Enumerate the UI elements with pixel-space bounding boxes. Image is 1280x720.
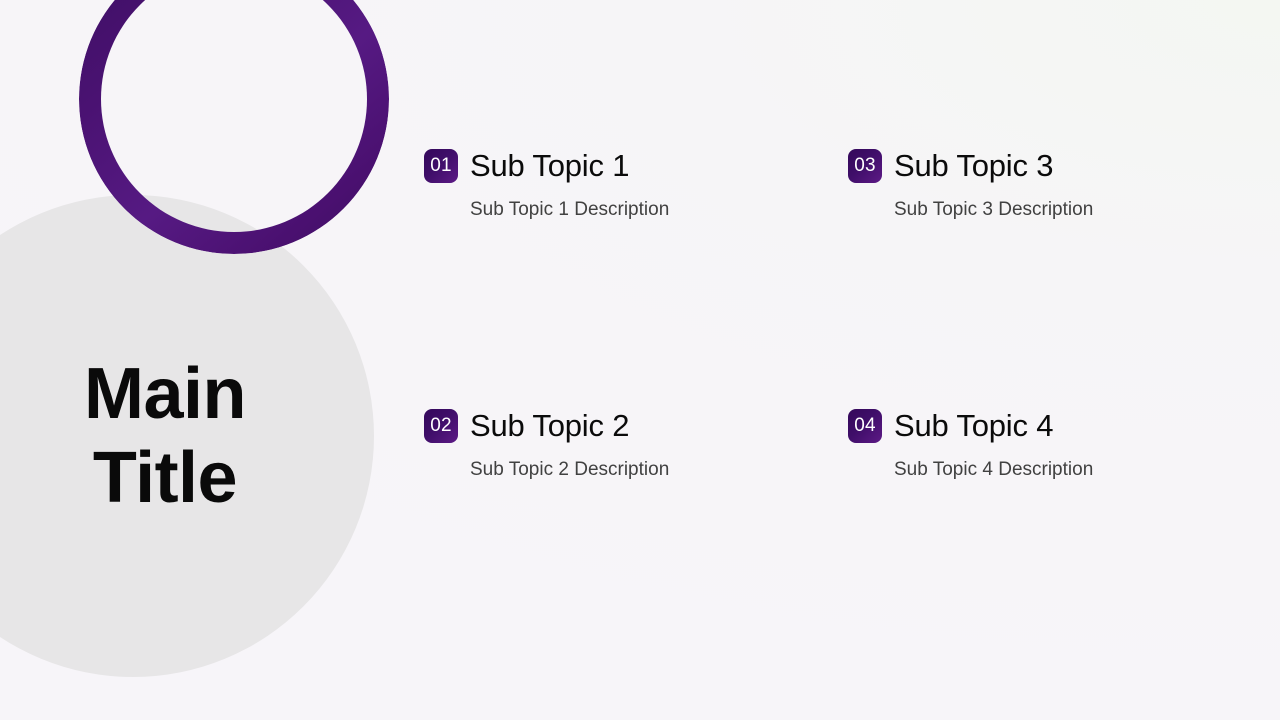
topic-title: Sub Topic 3 (894, 148, 1053, 184)
slide-canvas: Main Title 01 Sub Topic 1 Sub Topic 1 De… (0, 0, 1280, 720)
topic-description: Sub Topic 1 Description (470, 198, 848, 222)
topic-number-badge: 03 (848, 149, 882, 183)
topic-title: Sub Topic 1 (470, 148, 629, 184)
topic-header: 03 Sub Topic 3 (848, 148, 1184, 184)
topic-header: 01 Sub Topic 1 (424, 148, 848, 184)
topic-number-badge: 04 (848, 409, 882, 443)
topic-header: 02 Sub Topic 2 (424, 408, 848, 444)
topic-description: Sub Topic 4 Description (894, 458, 1184, 482)
topic-number-badge: 01 (424, 149, 458, 183)
topic-title: Sub Topic 2 (470, 408, 629, 444)
topic-item-04[interactable]: 04 Sub Topic 4 Sub Topic 4 Description (848, 408, 1184, 538)
topic-title: Sub Topic 4 (894, 408, 1053, 444)
topic-item-02[interactable]: 02 Sub Topic 2 Sub Topic 2 Description (424, 408, 848, 538)
page-title: Main Title (0, 352, 330, 520)
topic-description: Sub Topic 3 Description (894, 198, 1184, 222)
topic-header: 04 Sub Topic 4 (848, 408, 1184, 444)
topic-item-01[interactable]: 01 Sub Topic 1 Sub Topic 1 Description (424, 148, 848, 278)
topic-grid: 01 Sub Topic 1 Sub Topic 1 Description 0… (424, 148, 1184, 508)
topic-number-badge: 02 (424, 409, 458, 443)
topic-description: Sub Topic 2 Description (470, 458, 848, 482)
topic-item-03[interactable]: 03 Sub Topic 3 Sub Topic 3 Description (848, 148, 1184, 278)
